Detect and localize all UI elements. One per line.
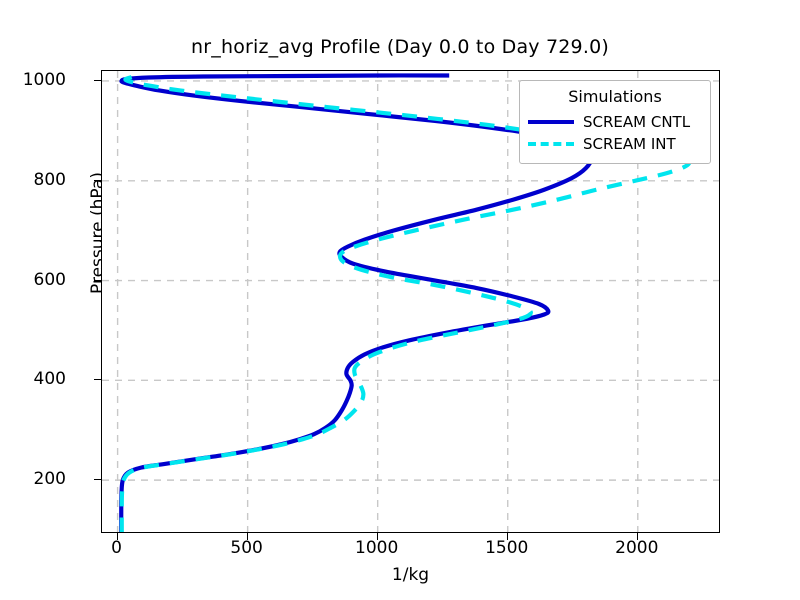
- legend-label: SCREAM INT: [583, 135, 676, 153]
- x-tick-mark: [377, 533, 378, 540]
- y-tick-label: 600: [0, 270, 66, 290]
- x-tick-label: 0: [72, 538, 162, 558]
- y-tick-mark: [94, 180, 101, 181]
- x-tick-mark: [637, 533, 638, 540]
- y-tick-label: 800: [0, 170, 66, 190]
- legend[interactable]: Simulations SCREAM CNTLSCREAM INT: [519, 80, 711, 164]
- legend-entry[interactable]: SCREAM CNTL: [528, 111, 702, 133]
- y-tick-mark: [94, 280, 101, 281]
- y-tick-mark: [94, 479, 101, 480]
- x-tick-mark: [247, 533, 248, 540]
- y-tick-label: 400: [0, 369, 66, 389]
- legend-entry[interactable]: SCREAM INT: [528, 133, 702, 155]
- legend-swatch: [528, 120, 574, 124]
- x-axis-label: 1/kg: [101, 565, 720, 585]
- x-tick-label: 1000: [332, 538, 422, 558]
- x-tick-label: 1500: [462, 538, 552, 558]
- x-tick-mark: [117, 533, 118, 540]
- x-tick-label: 2000: [592, 538, 682, 558]
- legend-swatch: [528, 142, 574, 146]
- x-tick-label: 500: [202, 538, 292, 558]
- y-tick-mark: [94, 80, 101, 81]
- x-tick-mark: [507, 533, 508, 540]
- y-tick-label: 1000: [0, 70, 66, 90]
- y-tick-label: 200: [0, 469, 66, 489]
- chart-title: nr_horiz_avg Profile (Day 0.0 to Day 729…: [0, 36, 800, 58]
- legend-title: Simulations: [528, 87, 702, 106]
- legend-entries: SCREAM CNTLSCREAM INT: [528, 111, 702, 155]
- legend-label: SCREAM CNTL: [583, 113, 690, 131]
- figure: nr_horiz_avg Profile (Day 0.0 to Day 729…: [0, 0, 800, 600]
- y-tick-mark: [94, 379, 101, 380]
